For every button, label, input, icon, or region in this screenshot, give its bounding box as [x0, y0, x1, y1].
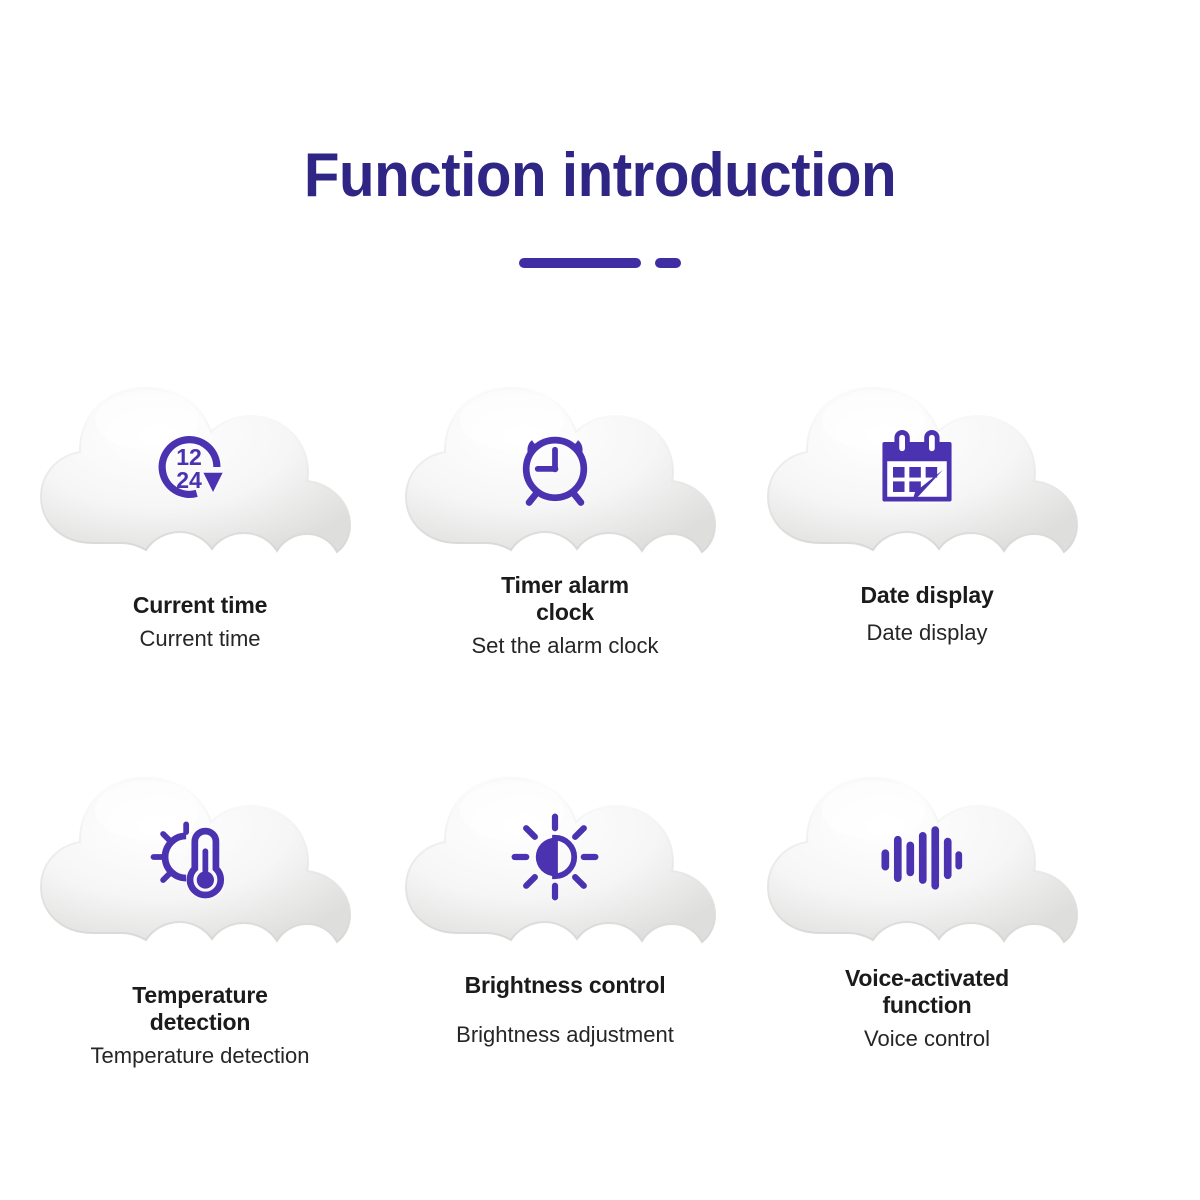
feature-card-date-display[interactable]: Date display Date display — [762, 360, 1122, 720]
cloud-shape — [35, 750, 365, 965]
feature-card-voice-activated-function[interactable]: Voice-activated function Voice control — [762, 750, 1122, 1110]
feature-card-brightness-control[interactable]: Brightness control Brightness adjustment — [400, 750, 760, 1110]
card-title: Timer alarm clock — [400, 572, 730, 626]
card-labels: Brightness control Brightness adjustment — [400, 972, 730, 1049]
card-title: Date display — [762, 582, 1092, 609]
voice-waveform-icon — [869, 809, 965, 905]
card-title: Temperature detection — [35, 982, 365, 1036]
card-title: Current time — [35, 592, 365, 619]
card-subtitle: Temperature detection — [35, 1042, 365, 1070]
12-24-hour-clock-icon: 12 24 — [142, 419, 238, 515]
divider-long-bar — [519, 258, 641, 268]
page-title: Function introduction — [36, 140, 1164, 211]
cloud-shape: 12 24 — [35, 360, 365, 575]
icon-container — [500, 412, 610, 522]
cloud-shape — [762, 360, 1092, 575]
card-labels: Temperature detection Temperature detect… — [35, 982, 365, 1070]
feature-card-current-time[interactable]: 12 24 Current time Current time — [35, 360, 395, 720]
alarm-clock-icon — [507, 419, 603, 515]
card-title: Voice-activated function — [762, 965, 1092, 1019]
card-labels: Timer alarm clock Set the alarm clock — [400, 572, 730, 660]
feature-card-temperature-detection[interactable]: Temperature detection Temperature detect… — [35, 750, 395, 1110]
icon-container — [500, 802, 610, 912]
divider-short-bar — [655, 258, 681, 268]
card-subtitle: Brightness adjustment — [400, 1021, 730, 1049]
cloud-shape — [400, 360, 730, 575]
title-divider — [0, 258, 1200, 268]
card-subtitle: Set the alarm clock — [400, 632, 730, 660]
card-subtitle: Current time — [35, 625, 365, 653]
thermometer-sun-icon — [142, 809, 238, 905]
icon-container — [135, 802, 245, 912]
feature-card-timer-alarm-clock[interactable]: Timer alarm clock Set the alarm clock — [400, 360, 760, 720]
card-subtitle: Voice control — [762, 1025, 1092, 1053]
card-title: Brightness control — [400, 972, 730, 999]
icon-container: 12 24 — [135, 412, 245, 522]
card-labels: Voice-activated function Voice control — [762, 965, 1092, 1053]
icon-container — [862, 802, 972, 912]
icon-container — [862, 412, 972, 522]
calendar-icon — [869, 419, 965, 515]
brightness-sun-icon — [507, 809, 603, 905]
card-subtitle: Date display — [762, 619, 1092, 647]
svg-text:24: 24 — [176, 467, 202, 493]
page-header: Function introduction — [0, 0, 1200, 300]
card-labels: Date display Date display — [762, 582, 1092, 647]
feature-cards-grid: 12 24 Current time Current time — [0, 360, 1200, 1160]
cloud-shape — [762, 750, 1092, 965]
cloud-shape — [400, 750, 730, 965]
card-labels: Current time Current time — [35, 592, 365, 653]
